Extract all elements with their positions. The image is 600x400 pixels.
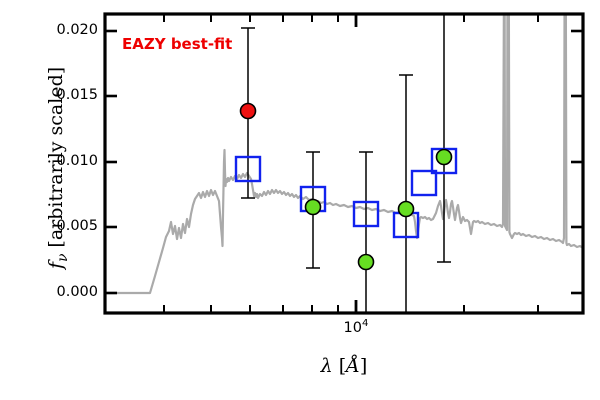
eazy-best-fit-annotation: EAZY best-fit <box>122 35 232 53</box>
data-point-green <box>306 200 321 215</box>
x-axis-label: λ [Å] <box>104 355 584 377</box>
x-tick-label-1e4: 104 <box>321 318 391 336</box>
data-point-green <box>437 150 452 165</box>
y-tick-label: 0.000 <box>28 284 98 300</box>
plot-background <box>105 14 583 313</box>
y-tick-label: 0.005 <box>28 218 98 234</box>
data-point-green <box>399 202 414 217</box>
y-tick-label: 0.015 <box>28 87 98 103</box>
y-tick-label: 0.020 <box>28 22 98 38</box>
y-tick-label: 0.010 <box>28 153 98 169</box>
data-point-green <box>359 255 374 270</box>
plot-svg <box>0 0 600 400</box>
data-point-red <box>241 104 256 119</box>
figure-canvas: 0.000 0.005 0.010 0.015 0.020 104 fν [ar… <box>0 0 600 400</box>
